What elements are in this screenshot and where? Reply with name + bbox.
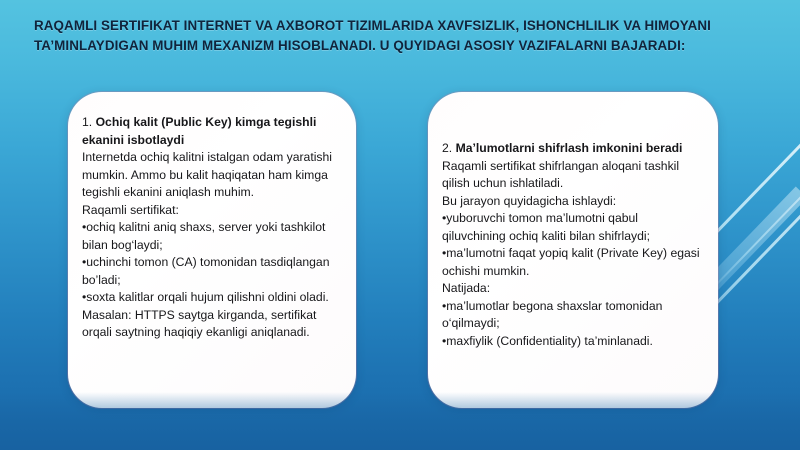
content-card-1: 1. Ochiq kalit (Public Key) kimga tegish… xyxy=(68,92,356,408)
slide-canvas: RAQAMLI SERTIFIKAT INTERNET VA AXBOROT T… xyxy=(0,0,800,450)
card-2-bullet-4: •maxfiylik (Confidentiality) ta’minlanad… xyxy=(442,333,702,351)
card-1-line-1: Internetda ochiq kalitni istalgan odam y… xyxy=(82,149,340,202)
card-2-bullet-2: •ma’lumotni faqat yopiq kalit (Private K… xyxy=(442,245,702,280)
card-2-bullet-1: •yuboruvchi tomon ma’lumotni qabul qiluv… xyxy=(442,210,702,245)
card-1-bullet-1: •ochiq kalitni aniq shaxs, server yoki t… xyxy=(82,219,340,254)
content-cards: 1. Ochiq kalit (Public Key) kimga tegish… xyxy=(0,0,800,450)
card-1-body: 1. Ochiq kalit (Public Key) kimga tegish… xyxy=(68,92,356,352)
card-2-heading: 2. Ma’lumotlarni shifrlash imkonini bera… xyxy=(442,140,702,158)
card-2-line-1: Raqamli sertifikat shifrlangan aloqani t… xyxy=(442,158,702,193)
card-1-bullet-2: •uchinchi tomon (CA) tomonidan tasdiqlan… xyxy=(82,254,340,289)
card-2-bullet-3: •ma’lumotlar begona shaxslar tomonidan o… xyxy=(442,298,702,333)
card-2-body: 2. Ma’lumotlarni shifrlash imkonini bera… xyxy=(428,92,718,360)
card-1-heading: 1. Ochiq kalit (Public Key) kimga tegish… xyxy=(82,114,340,149)
card-2-heading-text: Ma’lumotlarni shifrlash imkonini beradi xyxy=(456,141,683,155)
card-2-line-3: Natijada: xyxy=(442,280,702,298)
card-1-line-2: Raqamli sertifikat: xyxy=(82,202,340,220)
content-card-2: 2. Ma’lumotlarni shifrlash imkonini bera… xyxy=(428,92,718,408)
card-1-bullet-3: •soxta kalitlar orqali hujum qilishni ol… xyxy=(82,289,340,307)
card-1-heading-number: 1. xyxy=(82,115,92,129)
card-1-heading-text: Ochiq kalit (Public Key) kimga tegishli … xyxy=(82,115,316,147)
card-1-line-3: Masalan: HTTPS saytga kirganda, sertifik… xyxy=(82,307,340,342)
card-2-line-2: Bu jarayon quyidagicha ishlaydi: xyxy=(442,193,702,211)
card-2-heading-number: 2. xyxy=(442,141,452,155)
